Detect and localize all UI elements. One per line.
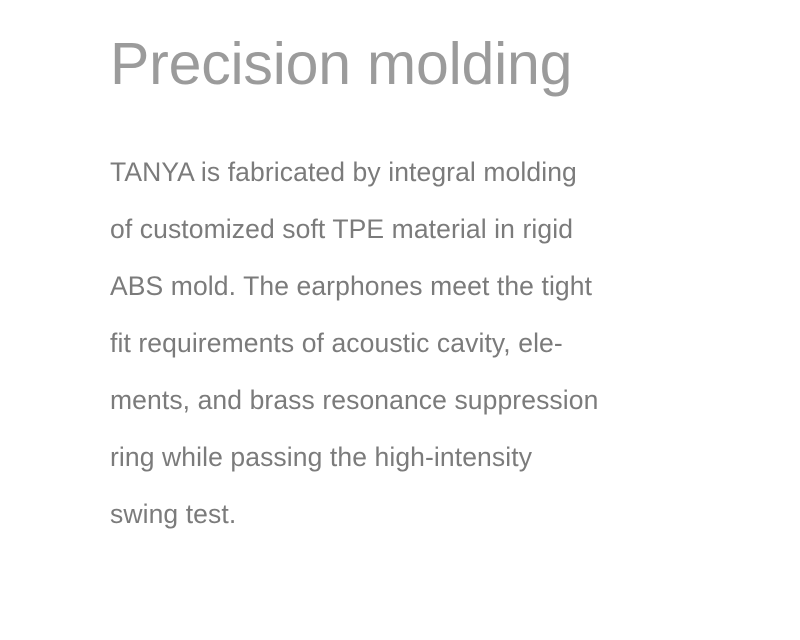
product-description-page: Precision molding TANYA is fabricated by…: [0, 0, 800, 640]
precision-molding-section: Precision molding TANYA is fabricated by…: [110, 28, 710, 543]
description-line: TANYA is fabricated by integral molding: [110, 144, 710, 201]
description-line: swing test.: [110, 486, 710, 543]
description-line: of customized soft TPE material in rigid: [110, 201, 710, 258]
page-title: Precision molding: [110, 28, 710, 100]
description-line: ments, and brass resonance suppression: [110, 372, 710, 429]
description-line: fit requirements of acoustic cavity, ele…: [110, 315, 710, 372]
description-line: ring while passing the high-intensity: [110, 429, 710, 486]
description-line: ABS mold. The earphones meet the tight: [110, 258, 710, 315]
description-paragraph: TANYA is fabricated by integral molding …: [110, 144, 710, 543]
